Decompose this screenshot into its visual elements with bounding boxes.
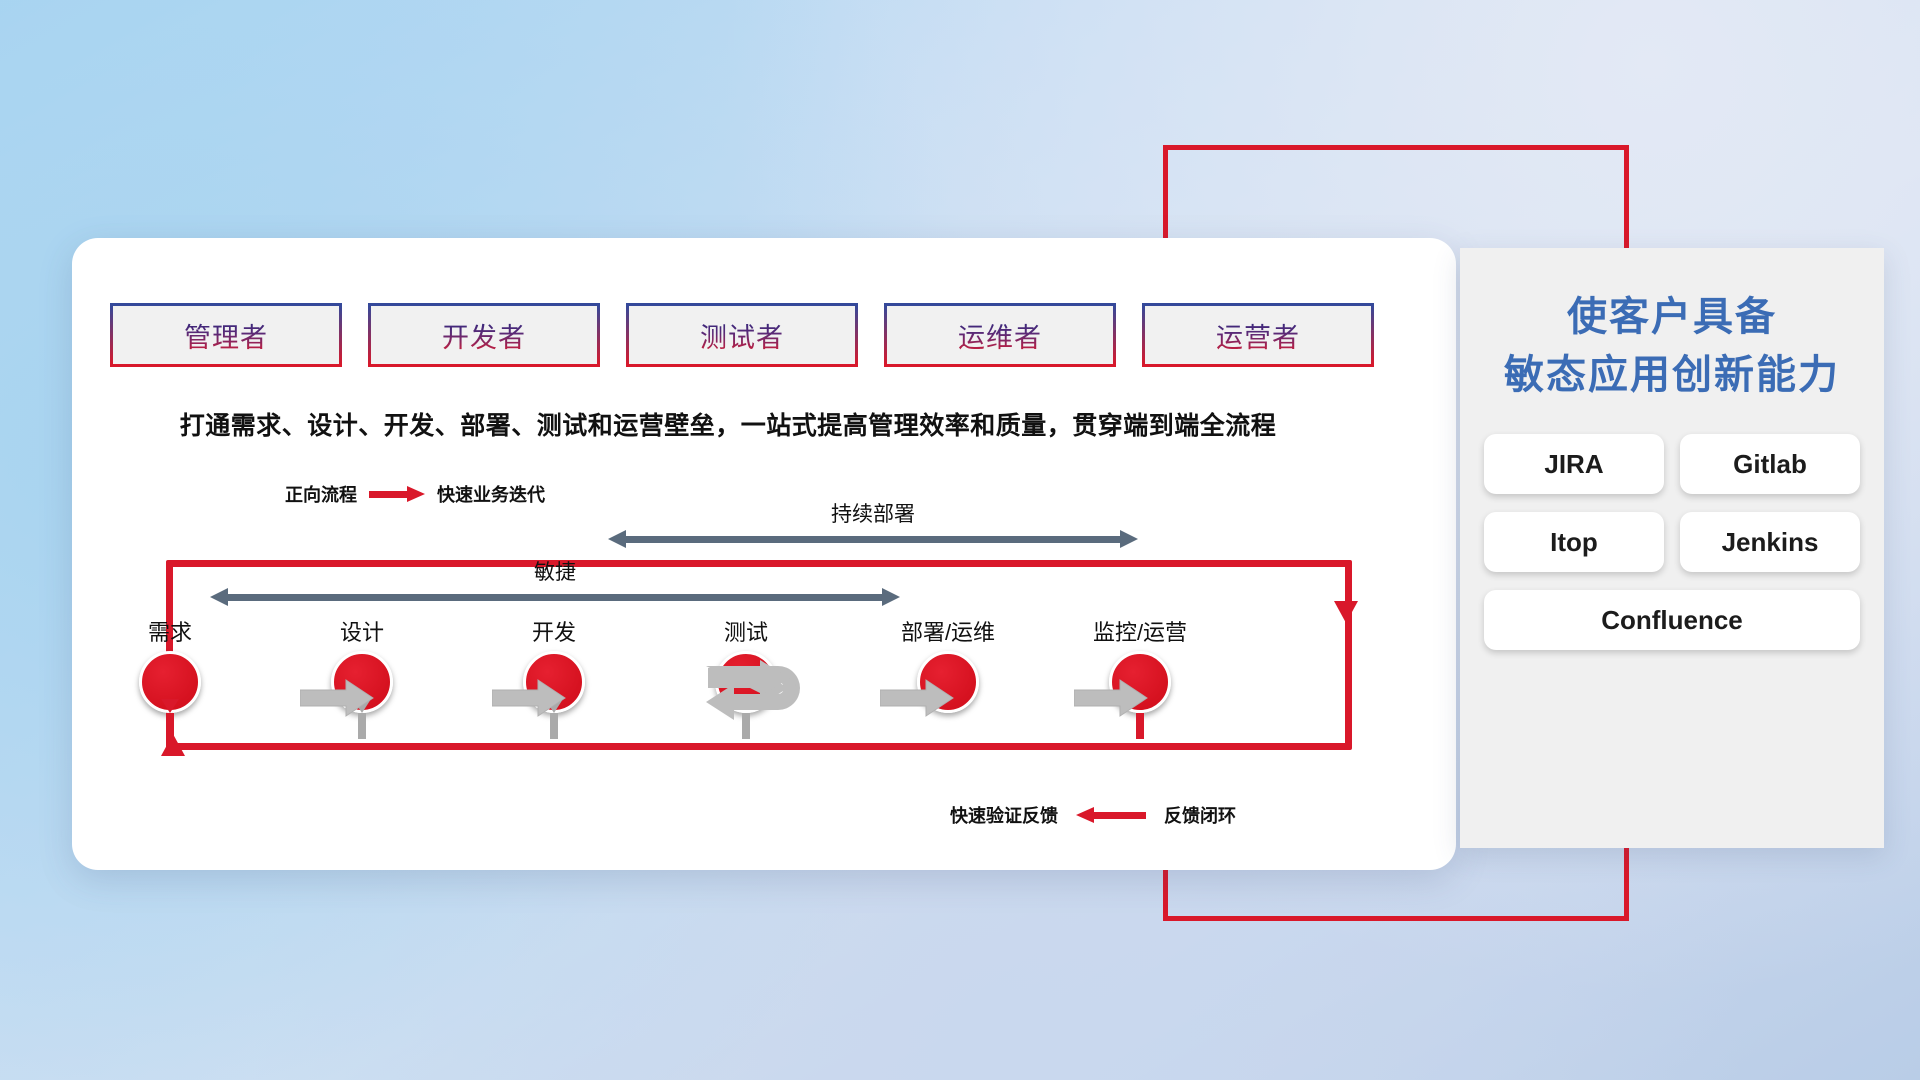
stage-label: 测试 bbox=[676, 615, 816, 647]
description-text: 打通需求、设计、开发、部署、测试和运营壁垒，一站式提高管理效率和质量，贯穿端到端… bbox=[0, 406, 1456, 442]
block-arrow-icon bbox=[1074, 678, 1148, 718]
arrow-shaft bbox=[226, 594, 884, 601]
arrow-head-right-icon bbox=[882, 588, 900, 606]
arrow-right-red-icon bbox=[369, 486, 425, 502]
role-box-operations[interactable]: 运营者 bbox=[1142, 303, 1374, 367]
block-arrow-icon bbox=[300, 678, 374, 718]
stage-label: 开发 bbox=[484, 615, 624, 647]
stage-stem-up-red bbox=[166, 713, 174, 739]
stage-label: 部署/运维 bbox=[878, 615, 1018, 647]
arrow-tip-icon bbox=[161, 699, 179, 713]
arrow-shaft bbox=[624, 536, 1122, 543]
tool-tag-itop[interactable]: Itop bbox=[1484, 512, 1664, 572]
stage-label: 需求 bbox=[100, 615, 240, 647]
role-label: 管理者 bbox=[184, 316, 268, 355]
panel-title-line-1: 使客户具备 bbox=[1460, 288, 1884, 346]
tool-tag-grid: JIRA Gitlab Itop Jenkins Confluence bbox=[1484, 434, 1860, 650]
stage-label: 监控/运营 bbox=[1070, 615, 1210, 647]
band-agile: 敏捷 bbox=[210, 588, 900, 606]
arrow-left-red-icon bbox=[1076, 807, 1146, 823]
role-box-developer[interactable]: 开发者 bbox=[368, 303, 600, 367]
double-arrow-icon bbox=[210, 588, 900, 606]
band-label: 持续部署 bbox=[608, 498, 1138, 528]
role-label: 测试者 bbox=[700, 316, 784, 355]
panel-title-line-2: 敏态应用创新能力 bbox=[1460, 346, 1884, 404]
tool-tag-jira[interactable]: JIRA bbox=[1484, 434, 1664, 494]
stage-label: 设计 bbox=[292, 615, 432, 647]
block-arrow-icon bbox=[880, 678, 954, 718]
capability-panel: 使客户具备 敏态应用创新能力 JIRA Gitlab Itop Jenkins … bbox=[1460, 248, 1884, 848]
stage-requirements[interactable]: 需求 bbox=[100, 615, 240, 713]
arrow-head-right-icon bbox=[1120, 530, 1138, 548]
role-box-manager[interactable]: 管理者 bbox=[110, 303, 342, 367]
feedback-source-label: 反馈闭环 bbox=[1164, 802, 1236, 828]
block-arrow-icon bbox=[492, 678, 566, 718]
forward-flow-source-label: 正向流程 bbox=[285, 481, 357, 507]
band-label: 敏捷 bbox=[210, 556, 900, 586]
forward-flow-target-label: 快速业务迭代 bbox=[437, 481, 545, 507]
feedback-loop-legend: 快速验证反馈 反馈闭环 bbox=[950, 802, 1236, 828]
role-box-ops[interactable]: 运维者 bbox=[884, 303, 1116, 367]
role-label: 运维者 bbox=[958, 316, 1042, 355]
role-label: 运营者 bbox=[1216, 316, 1300, 355]
role-label: 开发者 bbox=[442, 316, 526, 355]
tool-tag-confluence[interactable]: Confluence bbox=[1484, 590, 1860, 650]
double-arrow-icon bbox=[608, 530, 1138, 548]
panel-title: 使客户具备 敏态应用创新能力 bbox=[1460, 288, 1884, 404]
tool-tag-jenkins[interactable]: Jenkins bbox=[1680, 512, 1860, 572]
role-box-row: 管理者 开发者 测试者 运维者 运营者 bbox=[110, 303, 1374, 367]
loop-back-arrow-icon bbox=[700, 660, 812, 732]
role-box-tester[interactable]: 测试者 bbox=[626, 303, 858, 367]
band-continuous-deployment: 持续部署 bbox=[608, 530, 1138, 548]
feedback-target-label: 快速验证反馈 bbox=[950, 802, 1058, 828]
forward-flow-legend: 正向流程 快速业务迭代 bbox=[285, 481, 545, 507]
tool-tag-gitlab[interactable]: Gitlab bbox=[1680, 434, 1860, 494]
